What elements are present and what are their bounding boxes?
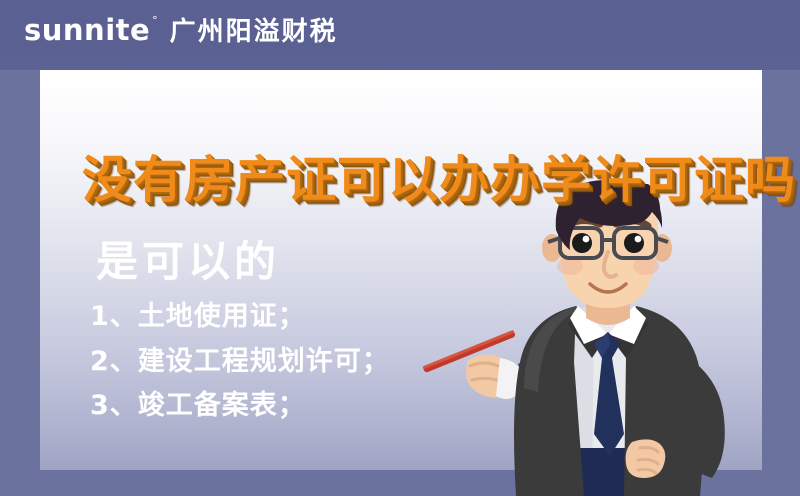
- brand-chinese-text: 广州阳溢财税: [170, 19, 338, 45]
- list-item: 1、土地使用证；: [90, 302, 390, 332]
- list-item: 2、建设工程规划许可；: [90, 347, 390, 377]
- header-band: sunnite ° 广州阳溢财税: [0, 0, 800, 70]
- brand-logo: sunnite ° 广州阳溢财税: [24, 16, 338, 54]
- list-item: 3、竣工备案表；: [90, 391, 390, 421]
- brand-latin-text: sunnite: [24, 16, 150, 45]
- page-title: 没有房产证可以办办学许可证吗: [82, 140, 796, 212]
- registered-mark-icon: °: [152, 15, 158, 26]
- page-subtitle: 是可以的: [96, 228, 280, 289]
- bullet-list: 1、土地使用证； 2、建设工程规划许可； 3、竣工备案表；: [90, 302, 390, 421]
- poster-canvas: sunnite ° 广州阳溢财税: [0, 0, 800, 496]
